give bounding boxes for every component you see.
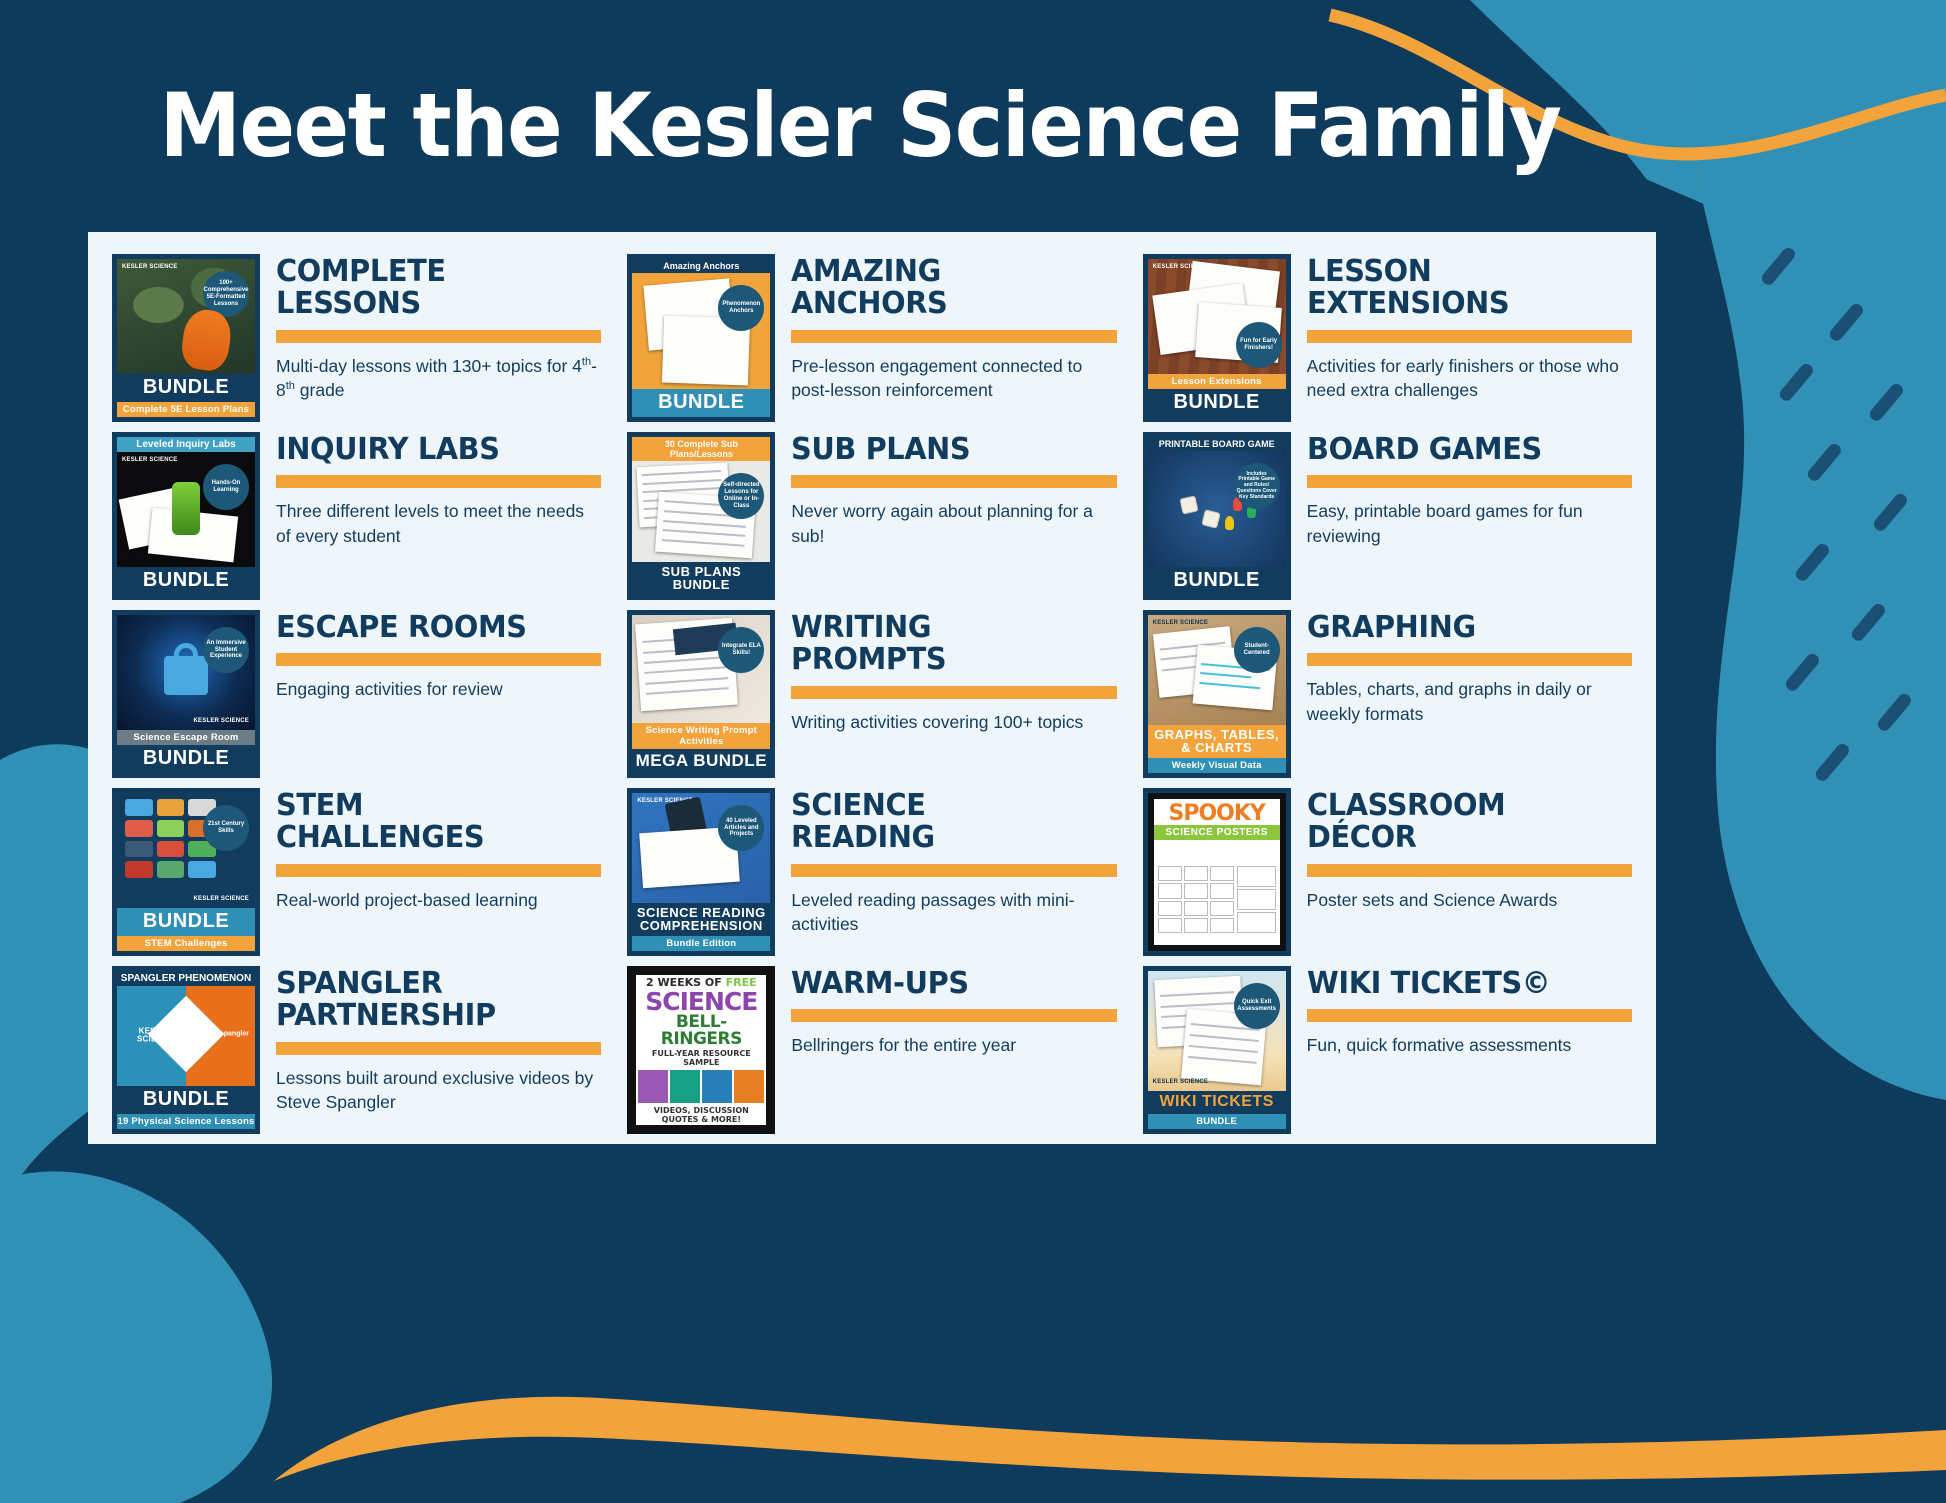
orange-divider <box>1307 864 1632 877</box>
orange-divider <box>791 686 1116 699</box>
product-description: Multi-day lessons with 130+ topics for 4… <box>276 354 601 402</box>
product-title: LESSON EXTENSIONS <box>1307 256 1619 321</box>
thumbnail-subcaption: 19 Physical Science Lessons <box>117 1114 255 1129</box>
thumbnail-caption: SUB PLANS BUNDLE <box>632 562 770 595</box>
product-description: Never worry again about planning for a s… <box>791 499 1116 547</box>
orange-divider <box>1307 653 1632 666</box>
thumbnail-subcaption: Science Writing Prompt Activities <box>632 723 770 749</box>
kesler-logo-icon: KESLER SCIENCE <box>194 718 249 724</box>
product-description: Three different levels to meet the needs… <box>276 499 601 547</box>
product-card-escape-rooms[interactable]: An Immersive Student Experience KESLER S… <box>112 610 601 788</box>
thumbnail-subcaption: Science Escape Room <box>117 730 255 745</box>
thumbnail-science-reading: KESLER SCIENCE 40 Leveled Articles and P… <box>627 788 775 956</box>
product-description: Writing activities covering 100+ topics <box>791 710 1116 734</box>
thumbnail-warm-ups: 2 WEEKS OF FREE SCIENCE BELL-RINGERS FUL… <box>627 966 775 1134</box>
thumbnail-inquiry-labs: Leveled Inquiry Labs KESLER SCIENCE Hand… <box>112 432 260 600</box>
thumbnail-toplabel: PRINTABLE BOARD GAME <box>1148 437 1286 451</box>
product-title: WARM-UPS <box>791 968 1103 1000</box>
thumbnail-subcaption: Bundle Edition <box>632 936 770 951</box>
thumbnail-badge: Phenomenon Anchors <box>718 285 764 331</box>
thumbnail-caption: BUNDLE <box>117 374 255 402</box>
orange-divider <box>276 653 601 666</box>
product-title: SUB PLANS <box>791 434 1103 466</box>
warmups-line3: BELL-RINGERS <box>636 1014 766 1048</box>
product-title: INQUIRY LABS <box>276 434 588 466</box>
orange-divider <box>1307 330 1632 343</box>
page-title: Meet the Kesler Science Family <box>60 74 1660 177</box>
product-description: Bellringers for the entire year <box>791 1033 1116 1057</box>
thumbnail-badge: Integrate ELA Skills! <box>718 627 764 673</box>
kesler-logo-icon: KESLER SCIENCE <box>1153 1079 1208 1085</box>
thumbnail-spangler: SPANGLER PHENOMENON KESLER SCIENCE steve… <box>112 966 260 1134</box>
thumbnail-subcaption: Weekly Visual Data <box>1148 758 1286 773</box>
thumbnail-badge: Quick Exit Assessments <box>1234 983 1280 1029</box>
orange-divider <box>791 864 1116 877</box>
thumbnail-badge: 40 Leveled Articles and Projects <box>718 805 764 851</box>
orange-divider <box>791 1009 1116 1022</box>
orange-divider <box>1307 1009 1632 1022</box>
product-title: ESCAPE ROOMS <box>276 612 588 644</box>
orange-divider <box>276 1042 601 1055</box>
product-card-lesson-extensions[interactable]: KESLER SCIENCE Fun for Early Finishers! … <box>1143 254 1632 432</box>
thumbnail-caption: WIKI TICKETS <box>1148 1091 1286 1114</box>
product-title: COMPLETE LESSONS <box>276 256 588 321</box>
thumbnail-badge: Fun for Early Finishers! <box>1236 322 1282 368</box>
product-card-warm-ups[interactable]: 2 WEEKS OF FREE SCIENCE BELL-RINGERS FUL… <box>627 966 1116 1144</box>
product-card-wiki-tickets[interactable]: Quick Exit Assessments KESLER SCIENCE WI… <box>1143 966 1632 1144</box>
thumbnail-caption: BUNDLE <box>1148 567 1286 595</box>
thumbnail-classroom-decor: SPOOKY SCIENCE POSTERS <box>1143 788 1291 956</box>
thumbnail-badge: 21st Century Skills <box>203 805 249 851</box>
thumbnail-escape-rooms: An Immersive Student Experience KESLER S… <box>112 610 260 778</box>
product-description: Real-world project-based learning <box>276 888 601 912</box>
thumbnail-caption: MEGA BUNDLE <box>632 749 770 773</box>
product-title: SPANGLER PARTNERSHIP <box>276 968 588 1033</box>
orange-divider <box>791 330 1116 343</box>
orange-divider <box>276 330 601 343</box>
thumbnail-writing-prompts: Integrate ELA Skills! Science Writing Pr… <box>627 610 775 778</box>
product-description: Leveled reading passages with mini-activ… <box>791 888 1116 936</box>
thumbnail-badge: 100+ Comprehensive 5E-Formatted Lessons <box>203 271 249 317</box>
product-title: CLASSROOM DÉCOR <box>1307 790 1619 855</box>
product-title: AMAZING ANCHORS <box>791 256 1103 321</box>
product-card-spangler-partnership[interactable]: SPANGLER PHENOMENON KESLER SCIENCE steve… <box>112 966 601 1144</box>
thumbnail-toplabel: SPANGLER PHENOMENON <box>117 971 255 986</box>
kesler-logo-icon: KESLER SCIENCE <box>194 896 249 902</box>
thumbnail-badge: Includes Printable Game and Rules! Quest… <box>1234 463 1280 509</box>
thumbnail-toplabel: 30 Complete Sub Plans/Lessons <box>632 437 770 461</box>
product-description: Fun, quick formative assessments <box>1307 1033 1632 1057</box>
thumbnail-badge: Student-Centered <box>1234 627 1280 673</box>
product-card-board-games[interactable]: PRINTABLE BOARD GAME Includes Printable … <box>1143 432 1632 610</box>
kesler-logo-icon: KESLER SCIENCE <box>122 264 177 270</box>
thumbnail-caption: BUNDLE <box>1148 389 1286 417</box>
product-card-complete-lessons[interactable]: KESLER SCIENCE 100+ Comprehensive 5E-For… <box>112 254 601 432</box>
product-title: WIKI TICKETS© <box>1307 968 1619 1000</box>
thumbnail-subcaption: Complete 5E Lesson Plans <box>117 402 255 417</box>
thumbnail-subcaption: BUNDLE <box>1148 1114 1286 1129</box>
warmups-line4: FULL-YEAR RESOURCE SAMPLE <box>636 1048 766 1068</box>
product-panel: KESLER SCIENCE 100+ Comprehensive 5E-For… <box>88 232 1656 1144</box>
thumbnail-badge: Hands-On Learning <box>203 464 249 510</box>
product-title: SCIENCE READING <box>791 790 1103 855</box>
product-description: Engaging activities for review <box>276 677 601 701</box>
product-card-science-reading[interactable]: KESLER SCIENCE 40 Leveled Articles and P… <box>627 788 1116 966</box>
product-title: WRITING PROMPTS <box>791 612 1103 677</box>
product-title: STEM CHALLENGES <box>276 790 588 855</box>
thumbnail-caption: BUNDLE <box>632 389 770 417</box>
thumbnail-wiki-tickets: Quick Exit Assessments KESLER SCIENCE WI… <box>1143 966 1291 1134</box>
thumbnail-caption: BUNDLE <box>117 567 255 595</box>
warmups-line2: SCIENCE <box>636 990 766 1014</box>
thumbnail-toplabel: Leveled Inquiry Labs <box>117 437 255 452</box>
product-description: Poster sets and Science Awards <box>1307 888 1632 912</box>
spooky-headline: SPOOKY <box>1154 799 1280 825</box>
product-description: Tables, charts, and graphs in daily or w… <box>1307 677 1632 725</box>
product-card-classroom-decor[interactable]: SPOOKY SCIENCE POSTERS <box>1143 788 1632 966</box>
thumbnail-sub-plans: 30 Complete Sub Plans/Lessons <box>627 432 775 600</box>
orange-divider <box>791 475 1116 488</box>
product-description: Lessons built around exclusive videos by… <box>276 1066 601 1114</box>
thumbnail-subcaption: STEM Challenges <box>117 936 255 951</box>
spooky-subhead: SCIENCE POSTERS <box>1154 825 1280 840</box>
thumbnail-toplabel: Amazing Anchors <box>632 259 770 273</box>
thumbnail-amazing-anchors: Amazing Anchors Phenomenon Anchors BUNDL… <box>627 254 775 422</box>
product-card-amazing-anchors[interactable]: Amazing Anchors Phenomenon Anchors BUNDL… <box>627 254 1116 432</box>
thumbnail-caption: SCIENCE READING COMPREHENSION <box>632 903 770 936</box>
orange-divider <box>276 864 601 877</box>
product-grid: KESLER SCIENCE 100+ Comprehensive 5E-For… <box>112 254 1632 1144</box>
product-card-sub-plans[interactable]: 30 Complete Sub Plans/Lessons <box>627 432 1116 610</box>
thumbnail-stem-challenges: 21st Century Skills KESLER SCIENCE BUNDL… <box>112 788 260 956</box>
thumbnail-complete-lessons: KESLER SCIENCE 100+ Comprehensive 5E-For… <box>112 254 260 422</box>
product-card-writing-prompts[interactable]: Integrate ELA Skills! Science Writing Pr… <box>627 610 1116 788</box>
thumbnail-caption: GRAPHS, TABLES, & CHARTS <box>1148 725 1286 758</box>
thumbnail-caption: BUNDLE <box>117 908 255 936</box>
thumbnail-caption: BUNDLE <box>117 745 255 773</box>
thumbnail-badge: Self-directed Lessons for Online or In-C… <box>718 473 764 519</box>
product-description: Pre-lesson engagement connected to post-… <box>791 354 1116 402</box>
thumbnail-subcaption: Lesson Extensions <box>1148 374 1286 389</box>
product-card-stem-challenges[interactable]: 21st Century Skills KESLER SCIENCE BUNDL… <box>112 788 601 966</box>
thumbnail-graphing: KESLER SCIENCE St <box>1143 610 1291 778</box>
poster-thumbnail-grid <box>1158 866 1276 933</box>
thumbnail-badge: An Immersive Student Experience <box>203 627 249 673</box>
product-description: Easy, printable board games for fun revi… <box>1307 499 1632 547</box>
product-title: BOARD GAMES <box>1307 434 1619 466</box>
warmups-line5: VIDEOS, DISCUSSION QUOTES & MORE! <box>636 1105 766 1125</box>
orange-divider <box>276 475 601 488</box>
product-description: Activities for early finishers or those … <box>1307 354 1632 402</box>
product-title: GRAPHING <box>1307 612 1619 644</box>
orange-divider <box>1307 475 1632 488</box>
product-card-inquiry-labs[interactable]: Leveled Inquiry Labs KESLER SCIENCE Hand… <box>112 432 601 610</box>
thumbnail-board-games: PRINTABLE BOARD GAME Includes Printable … <box>1143 432 1291 600</box>
thumbnail-caption: BUNDLE <box>117 1086 255 1114</box>
product-card-graphing[interactable]: KESLER SCIENCE St <box>1143 610 1632 788</box>
thumbnail-lesson-extensions: KESLER SCIENCE Fun for Early Finishers! … <box>1143 254 1291 422</box>
